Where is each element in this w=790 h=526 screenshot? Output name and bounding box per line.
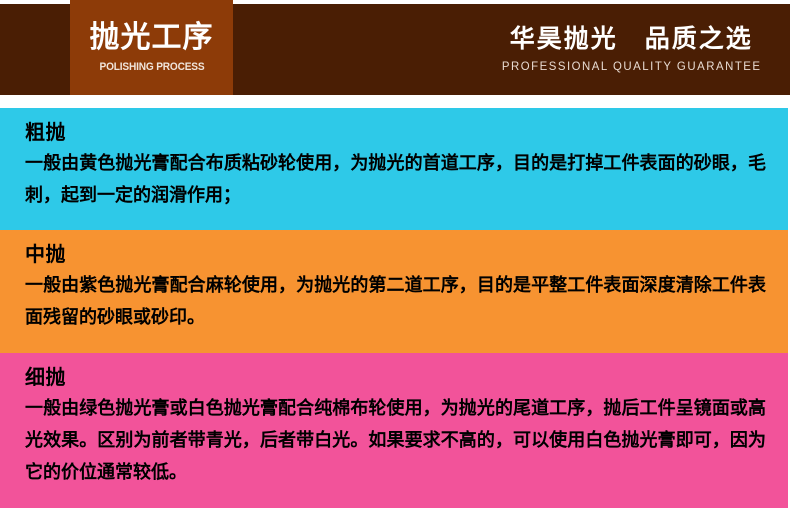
- header-section-gap: [0, 95, 790, 108]
- section-title: 中抛: [25, 242, 766, 269]
- section-body: 一般由黄色抛光膏配合布质粘砂轮使用，为抛光的首道工序，目的是打掉工件表面的砂眼，…: [25, 147, 766, 211]
- badge-title-en: POLISHING PROCESS: [99, 61, 204, 73]
- page-header: 抛光工序 POLISHING PROCESS 华昊抛光 品质之选 PROFESS…: [0, 0, 790, 95]
- process-section-medium: 中抛 一般由紫色抛光膏配合麻轮使用，为抛光的第二道工序，目的是平整工件表面深度清…: [0, 230, 788, 353]
- header-badge: 抛光工序 POLISHING PROCESS: [70, 0, 233, 95]
- process-section-coarse: 粗抛 一般由黄色抛光膏配合布质粘砂轮使用，为抛光的首道工序，目的是打掉工件表面的…: [0, 108, 788, 230]
- section-body: 一般由绿色抛光膏或白色抛光膏配合纯棉布轮使用，为抛光的尾道工序，抛后工件呈镜面或…: [25, 392, 766, 488]
- section-title: 粗抛: [25, 120, 766, 147]
- badge-title-cn: 抛光工序: [90, 22, 214, 54]
- process-section-fine: 细抛 一般由绿色抛光膏或白色抛光膏配合纯棉布轮使用，为抛光的尾道工序，抛后工件呈…: [0, 353, 788, 508]
- header-slogan: 华昊抛光 品质之选 PROFESSIONAL QUALITY GUARANTEE: [495, 4, 768, 95]
- section-title: 细抛: [25, 365, 766, 392]
- slogan-title-cn: 华昊抛光 品质之选: [510, 26, 753, 54]
- slogan-title-en: PROFESSIONAL QUALITY GUARANTEE: [501, 59, 761, 73]
- section-body: 一般由紫色抛光膏配合麻轮使用，为抛光的第二道工序，目的是平整工件表面深度清除工件…: [25, 269, 766, 333]
